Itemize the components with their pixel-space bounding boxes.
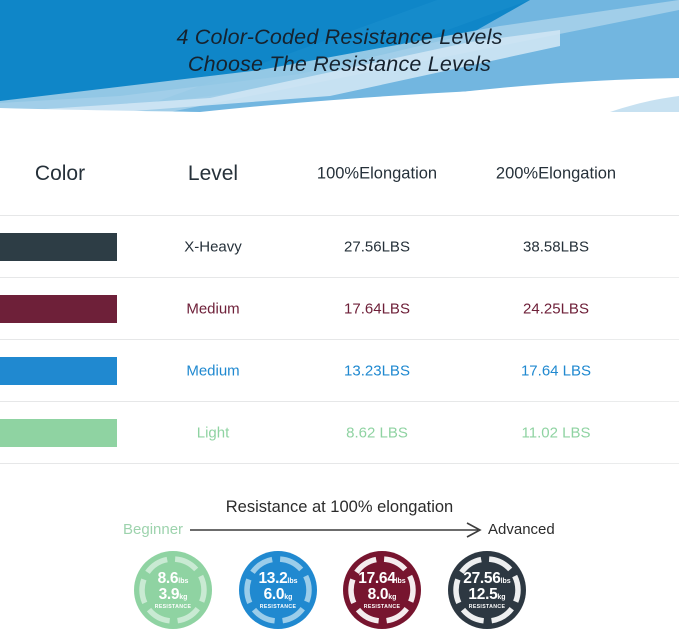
table-row: Medium 17.64LBS 24.25LBS [0, 278, 679, 339]
column-header-200-elongation: 200%Elongation [496, 165, 616, 184]
cell-level: Medium [186, 363, 239, 380]
table-row: Medium 13.23LBS 17.64 LBS [0, 340, 679, 401]
gauge-ring-icon [342, 550, 422, 630]
page-title-line1: 4 Color-Coded Resistance Levels [176, 25, 502, 49]
column-header-level: Level [188, 162, 238, 186]
cell-200-elongation: 17.64 LBS [521, 363, 591, 380]
color-swatch [0, 419, 117, 447]
cell-100-elongation: 17.64LBS [344, 301, 410, 318]
gauge-ring-icon [238, 550, 318, 630]
header-banner: 4 Color-Coded Resistance Levels Choose T… [0, 0, 679, 112]
badge-medium-blue: 13.2lbs 6.0kg RESISTANCE [238, 550, 318, 630]
table-header-row: Color Level 100%Elongation 200%Elongatio… [0, 112, 679, 215]
color-swatch [0, 295, 117, 323]
color-swatch [0, 233, 117, 261]
badge-x-heavy: 27.56lbs 12.5kg RESISTANCE [447, 550, 527, 630]
badge-medium-maroon: 17.64lbs 8.0kg RESISTANCE [342, 550, 422, 630]
resistance-scale-legend: Resistance at 100% elongation Beginner A… [0, 498, 679, 548]
gauge-ring-icon [447, 550, 527, 630]
badge-light: 8.6lbs 3.9kg RESISTANCE [133, 550, 213, 630]
cell-200-elongation: 11.02 LBS [522, 425, 591, 442]
gauge-ring-icon [133, 550, 213, 630]
column-header-color: Color [35, 162, 85, 186]
table-row: Light 8.62 LBS 11.02 LBS [0, 402, 679, 463]
cell-level: Light [197, 425, 230, 442]
arrow-right-icon [190, 522, 485, 538]
page-title-line2: Choose The Resistance Levels [0, 51, 679, 78]
color-swatch [0, 357, 117, 385]
cell-level: Medium [186, 301, 239, 318]
cell-200-elongation: 24.25LBS [523, 301, 589, 318]
legend-start-label: Beginner [123, 521, 183, 538]
cell-100-elongation: 8.62 LBS [346, 425, 408, 442]
column-header-100-elongation: 100%Elongation [317, 165, 437, 184]
resistance-table: Color Level 100%Elongation 200%Elongatio… [0, 112, 679, 464]
table-row: X-Heavy 27.56LBS 38.58LBS [0, 216, 679, 277]
cell-200-elongation: 38.58LBS [523, 239, 589, 256]
cell-100-elongation: 13.23LBS [344, 363, 410, 380]
cell-100-elongation: 27.56LBS [344, 239, 410, 256]
legend-end-label: Advanced [488, 521, 555, 538]
table-divider [0, 463, 679, 464]
page-title: 4 Color-Coded Resistance Levels Choose T… [0, 24, 679, 78]
cell-level: X-Heavy [184, 239, 242, 256]
legend-title: Resistance at 100% elongation [0, 498, 679, 517]
resistance-badges: 8.6lbs 3.9kg RESISTANCE 13.2lbs 6.0kg RE… [0, 548, 679, 633]
